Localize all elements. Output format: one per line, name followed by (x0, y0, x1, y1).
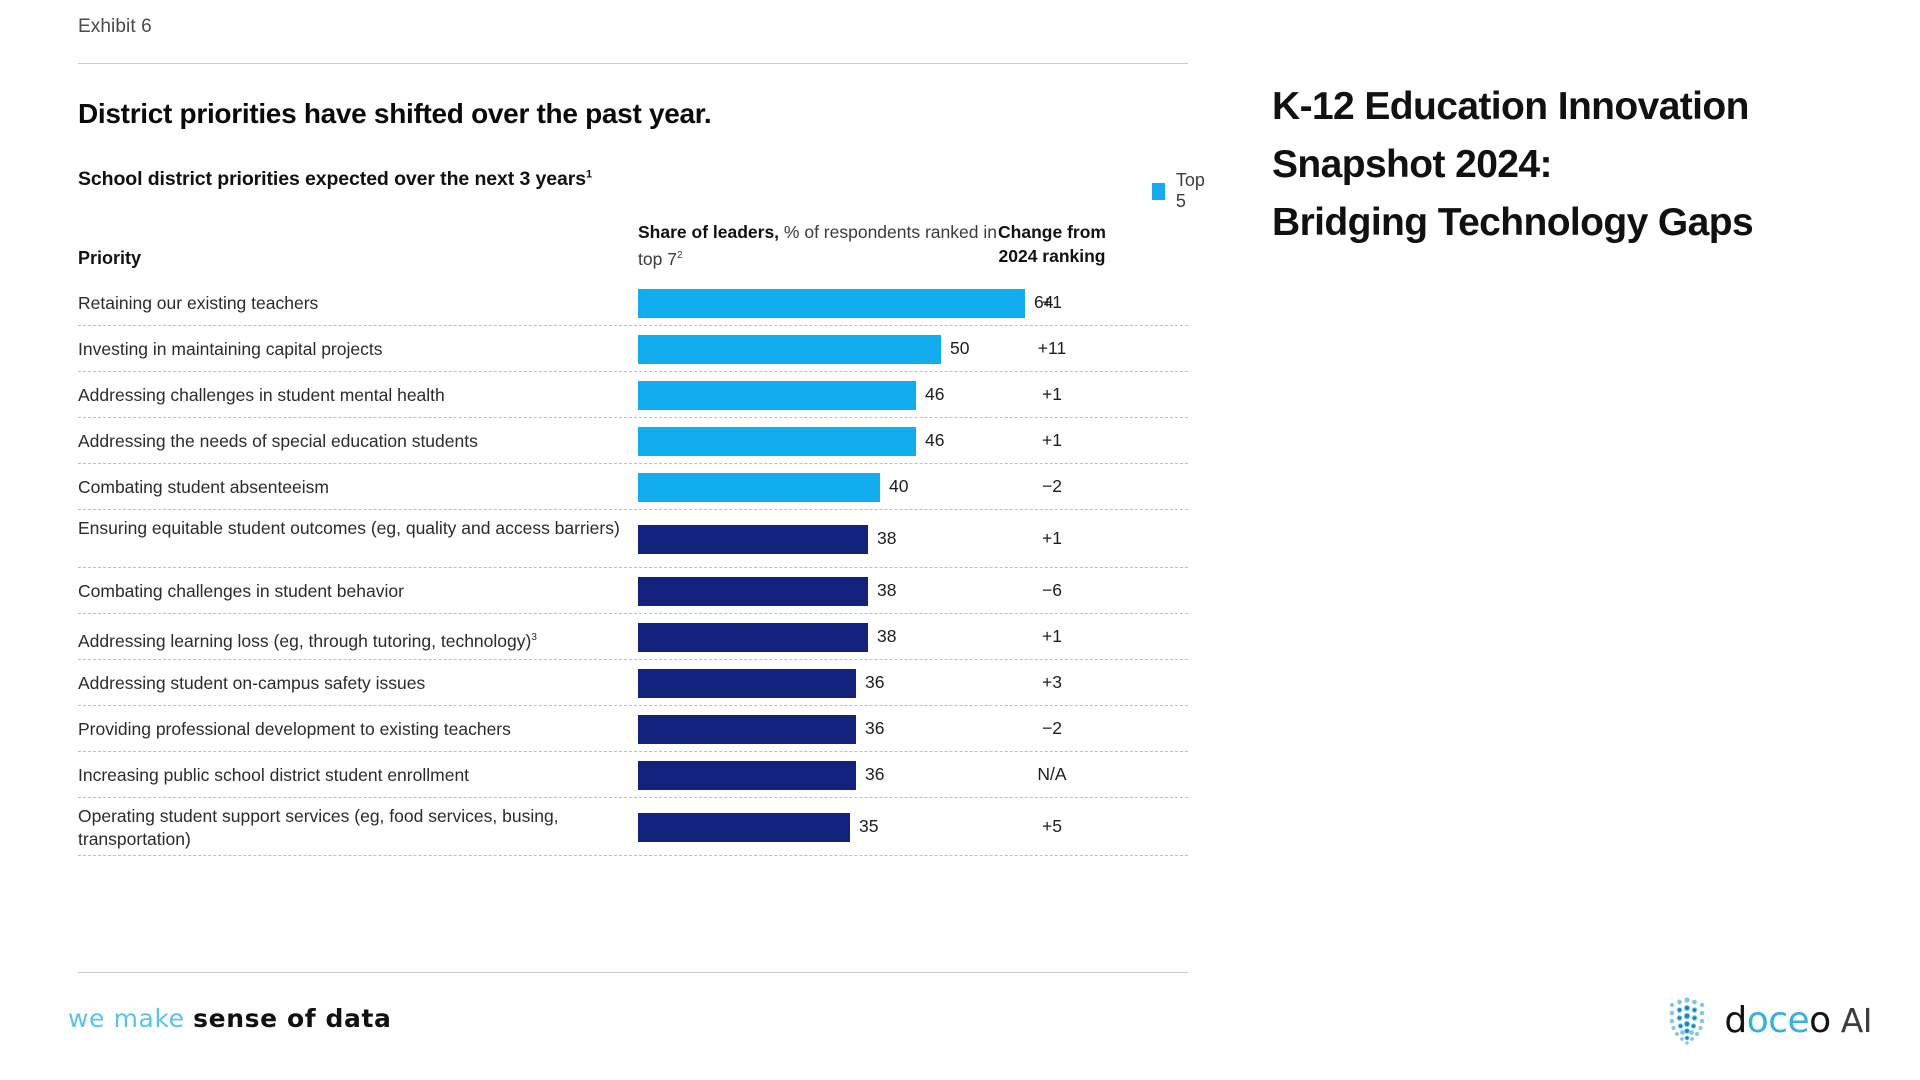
row-change-value: +5 (972, 816, 1132, 837)
row-bar (638, 623, 868, 652)
row-priority-label: Combating challenges in student behavior (78, 580, 623, 603)
column-header-share: Share of leaders, % of respondents ranke… (638, 220, 1018, 271)
brand-letter-d: d (1724, 1000, 1746, 1041)
table-row: Investing in maintaining capital project… (78, 326, 1188, 372)
doceo-cube-dots-icon (1664, 994, 1710, 1046)
row-change-value: +3 (972, 672, 1132, 693)
row-bar (638, 813, 850, 842)
table-row: Ensuring equitable student outcomes (eg,… (78, 510, 1188, 568)
table-row: Addressing challenges in student mental … (78, 372, 1188, 418)
row-bar-value: 38 (877, 528, 896, 549)
table-row: Addressing learning loss (eg, through tu… (78, 614, 1188, 660)
priority-chart-table: Priority Share of leaders, % of responde… (78, 218, 1188, 856)
row-change-value: N/A (972, 764, 1132, 785)
row-bar (638, 427, 916, 456)
row-bar (638, 335, 941, 364)
row-change-value: −6 (972, 580, 1132, 601)
column-header-share-footnote-marker: 2 (677, 250, 683, 261)
exhibit-bottom-divider (78, 972, 1188, 973)
row-change-value: +11 (972, 338, 1132, 359)
row-bar-value: 35 (859, 816, 878, 837)
legend-label-top5: Top 5 (1176, 170, 1209, 212)
doceo-ai-wordmark: doceoAI (1724, 1000, 1872, 1041)
column-header-change-line2: 2024 ranking (999, 246, 1106, 266)
deck-title-line-1: K-12 Education Innovation (1272, 78, 1872, 136)
row-change-value: +1 (972, 430, 1132, 451)
brand-letter-o: o (1809, 1000, 1831, 1041)
footer-tagline-light: we make (68, 1004, 193, 1033)
row-bar (638, 289, 1025, 318)
row-bar-value: 38 (877, 580, 896, 601)
brand-letters-oce: oce (1747, 1000, 1809, 1041)
table-row: Addressing the needs of special educatio… (78, 418, 1188, 464)
table-row: Addressing student on-campus safety issu… (78, 660, 1188, 706)
chart-legend: Top 5 (1152, 170, 1209, 212)
exhibit-top-divider (78, 63, 1188, 64)
column-header-priority: Priority (78, 248, 141, 269)
row-bar-value: 36 (865, 718, 884, 739)
row-bar-value: 50 (950, 338, 969, 359)
table-row: Providing professional development to ex… (78, 706, 1188, 752)
row-bar-value: 46 (925, 384, 944, 405)
table-row: Operating student support services (eg, … (78, 798, 1188, 856)
exhibit-subheadline-footnote-marker: 1 (586, 169, 592, 181)
row-priority-label: Providing professional development to ex… (78, 718, 623, 741)
exhibit-panel: Exhibit 6 District priorities have shift… (78, 0, 1188, 1000)
row-change-value: +1 (972, 292, 1132, 313)
exhibit-headline: District priorities have shifted over th… (78, 98, 711, 130)
row-change-value: +1 (972, 384, 1132, 405)
footer-tagline: we make sense of data (68, 1004, 392, 1033)
row-label-footnote-marker: 3 (531, 632, 537, 643)
deck-title: K-12 Education InnovationSnapshot 2024:B… (1272, 78, 1872, 252)
legend-swatch-top5-icon (1152, 183, 1165, 200)
row-priority-label: Investing in maintaining capital project… (78, 338, 623, 361)
table-row: Retaining our existing teachers64+1 (78, 280, 1188, 326)
row-change-value: +1 (972, 528, 1132, 549)
exhibit-subheadline-text: School district priorities expected over… (78, 168, 586, 190)
deck-title-line-3: Bridging Technology Gaps (1272, 194, 1872, 252)
table-row: Combating student absenteeism40−2 (78, 464, 1188, 510)
row-bar-value: 46 (925, 430, 944, 451)
row-priority-label: Addressing challenges in student mental … (78, 384, 623, 407)
deck-title-line-2: Snapshot 2024: (1272, 136, 1872, 194)
row-bar-value: 38 (877, 626, 896, 647)
row-bar (638, 669, 856, 698)
table-row: Combating challenges in student behavior… (78, 568, 1188, 614)
doceo-ai-logo: doceoAI (1664, 994, 1872, 1046)
row-bar-value: 36 (865, 672, 884, 693)
row-priority-label: Addressing the needs of special educatio… (78, 430, 623, 453)
row-bar (638, 715, 856, 744)
slide-canvas: Exhibit 6 District priorities have shift… (0, 0, 1920, 1080)
row-bar (638, 525, 868, 554)
exhibit-label: Exhibit 6 (78, 16, 152, 38)
row-priority-label: Combating student absenteeism (78, 476, 623, 499)
row-change-value: −2 (972, 476, 1132, 497)
row-bar-value: 40 (889, 476, 908, 497)
column-header-share-bold: Share of leaders, (638, 222, 779, 242)
footer-tagline-bold: sense of data (193, 1004, 391, 1033)
table-row: Increasing public school district studen… (78, 752, 1188, 798)
row-bar (638, 381, 916, 410)
column-header-change-line1: Change from (998, 222, 1106, 242)
column-header-change: Change from 2024 ranking (972, 220, 1132, 268)
row-bar (638, 761, 856, 790)
exhibit-subheadline: School district priorities expected over… (78, 168, 592, 191)
row-priority-label: Ensuring equitable student outcomes (eg,… (78, 517, 623, 540)
row-bar (638, 473, 880, 502)
table-rows-container: Retaining our existing teachers64+1Inves… (78, 280, 1188, 856)
row-priority-label: Increasing public school district studen… (78, 764, 623, 787)
table-header-row: Priority Share of leaders, % of responde… (78, 218, 1188, 280)
brand-suffix-ai: AI (1841, 1001, 1872, 1040)
row-priority-label: Retaining our existing teachers (78, 292, 623, 315)
row-change-value: +1 (972, 626, 1132, 647)
row-priority-label: Addressing student on-campus safety issu… (78, 672, 623, 695)
row-bar (638, 577, 868, 606)
row-priority-label: Operating student support services (eg, … (78, 805, 623, 851)
row-bar-value: 36 (865, 764, 884, 785)
row-priority-label: Addressing learning loss (eg, through tu… (78, 626, 623, 653)
row-change-value: −2 (972, 718, 1132, 739)
